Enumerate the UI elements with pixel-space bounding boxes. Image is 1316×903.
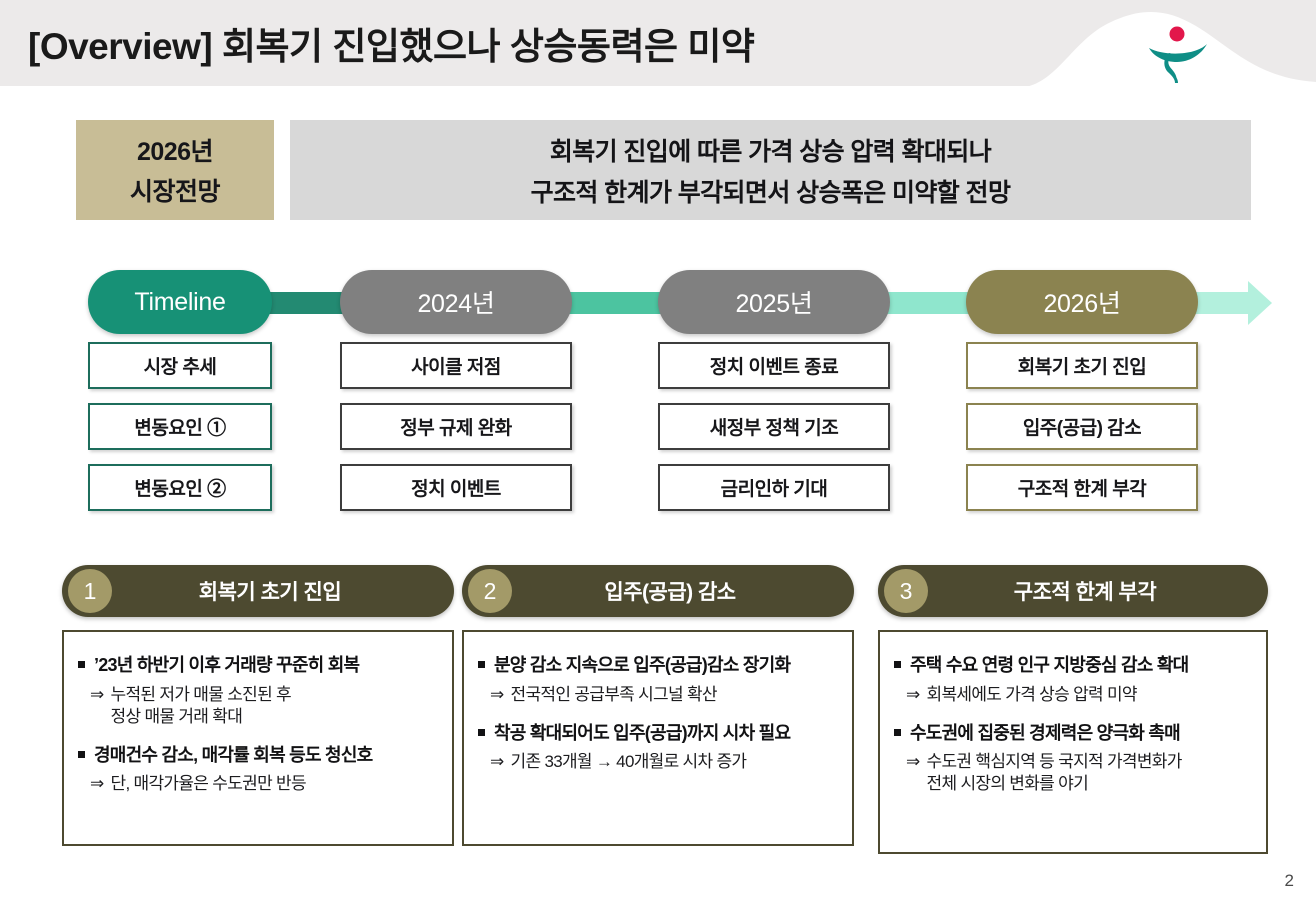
bullet-group: 수도권에 집중된 경제력은 양극화 촉매 ⇒ 수도권 핵심지역 등 국지적 가격…: [894, 722, 1252, 796]
double-arrow-icon: ⇒: [906, 751, 920, 773]
bullet-item: 착공 확대되어도 입주(공급)까지 시차 필요: [478, 722, 838, 745]
sub-item: ⇒ 수도권 핵심지역 등 국지적 가격변화가 전체 시장의 변화를 야기: [906, 751, 1252, 795]
summary-line1: 회복기 진입에 따른 가격 상승 압력 확대되나: [550, 132, 991, 168]
bullet-text: 주택 수요 연령 인구 지방중심 감소 확대: [910, 654, 1188, 677]
bullet-item: 주택 수요 연령 인구 지방중심 감소 확대: [894, 654, 1252, 677]
panel-header[interactable]: 3 구조적 한계 부각: [878, 565, 1268, 617]
panel-number-badge: 1: [68, 569, 112, 613]
double-arrow-icon: ⇒: [906, 684, 920, 706]
timeline-column-3: 회복기 초기 진입 입주(공급) 감소 구조적 한계 부각: [966, 342, 1198, 525]
timeline-cell[interactable]: 시장 추세: [88, 342, 272, 389]
timeline-cell[interactable]: 입주(공급) 감소: [966, 403, 1198, 450]
detail-panel-1: 1 회복기 초기 진입 ’23년 하반기 이후 거래량 꾸준히 회복 ⇒ 누적된…: [62, 565, 454, 846]
bullet-square-icon: [78, 751, 85, 758]
summary-tag-line1: 2026년: [137, 132, 213, 168]
timeline-cell[interactable]: 새정부 정책 기조: [658, 403, 890, 450]
slide-header: [Overview] 회복기 진입했으나 상승동력은 미약: [0, 0, 1316, 86]
sub-item: ⇒ 전국적인 공급부족 시그널 확산: [490, 684, 838, 706]
timeline-cell[interactable]: 변동요인 ①: [88, 403, 272, 450]
timeline-cell[interactable]: 구조적 한계 부각: [966, 464, 1198, 511]
page-title: [Overview] 회복기 진입했으나 상승동력은 미약: [28, 16, 754, 70]
panel-header[interactable]: 2 입주(공급) 감소: [462, 565, 854, 617]
timeline-cell[interactable]: 정부 규제 완화: [340, 403, 572, 450]
timeline-section: Timeline 2024년 2025년 2026년 시장 추세 변동요인 ① …: [0, 270, 1316, 520]
bullet-text: 경매건수 감소, 매각률 회복 등도 청신호: [94, 744, 372, 767]
bullet-group: 착공 확대되어도 입주(공급)까지 시차 필요 ⇒ 기존 33개월 → 40개월…: [478, 722, 838, 774]
sub-text: 단, 매각가율은 수도권만 반등: [111, 773, 306, 795]
bullet-square-icon: [894, 729, 901, 736]
bullet-group: 경매건수 감소, 매각률 회복 등도 청신호 ⇒ 단, 매각가율은 수도권만 반…: [78, 744, 438, 796]
bullet-text: 착공 확대되어도 입주(공급)까지 시차 필요: [494, 722, 790, 745]
panel-title: 구조적 한계 부각: [878, 576, 1268, 606]
slide-root: [Overview] 회복기 진입했으나 상승동력은 미약 2026년 시장전망…: [0, 0, 1316, 903]
double-arrow-icon: ⇒: [90, 684, 104, 706]
timeline-cell[interactable]: 변동요인 ②: [88, 464, 272, 511]
page-number: 2: [1285, 871, 1294, 891]
summary-tag: 2026년 시장전망: [76, 120, 274, 220]
timeline-column-1: 사이클 저점 정부 규제 완화 정치 이벤트: [340, 342, 572, 525]
timeline-column-0: 시장 추세 변동요인 ① 변동요인 ②: [88, 342, 272, 525]
panel-header[interactable]: 1 회복기 초기 진입: [62, 565, 454, 617]
panel-number-badge: 2: [468, 569, 512, 613]
bullet-square-icon: [78, 661, 85, 668]
bullet-square-icon: [894, 661, 901, 668]
timeline-cell[interactable]: 회복기 초기 진입: [966, 342, 1198, 389]
panel-number-badge: 3: [884, 569, 928, 613]
timeline-header-2[interactable]: 2025년: [658, 270, 890, 334]
summary-tag-line2: 시장전망: [130, 172, 220, 208]
bullet-item: 경매건수 감소, 매각률 회복 등도 청신호: [78, 744, 438, 767]
timeline-column-2: 정치 이벤트 종료 새정부 정책 기조 금리인하 기대: [658, 342, 890, 525]
bullet-square-icon: [478, 729, 485, 736]
timeline-cell[interactable]: 정치 이벤트: [340, 464, 572, 511]
double-arrow-icon: ⇒: [490, 684, 504, 706]
panel-body: 주택 수요 연령 인구 지방중심 감소 확대 ⇒ 회복세에도 가격 상승 압력 …: [878, 630, 1268, 854]
summary-line2: 구조적 한계가 부각되면서 상승폭은 미약할 전망: [531, 173, 1011, 209]
bullet-group: 주택 수요 연령 인구 지방중심 감소 확대 ⇒ 회복세에도 가격 상승 압력 …: [894, 654, 1252, 706]
sub-item: ⇒ 회복세에도 가격 상승 압력 미약: [906, 684, 1252, 706]
right-arrow-icon: [1248, 281, 1272, 325]
bullet-text: 분양 감소 지속으로 입주(공급)감소 장기화: [494, 654, 790, 677]
bullet-group: ’23년 하반기 이후 거래량 꾸준히 회복 ⇒ 누적된 저가 매물 소진된 후…: [78, 654, 438, 728]
summary-row: 2026년 시장전망 회복기 진입에 따른 가격 상승 압력 확대되나 구조적 …: [76, 120, 1251, 220]
double-arrow-icon: ⇒: [490, 751, 504, 773]
bullet-square-icon: [478, 661, 485, 668]
sub-text: 누적된 저가 매물 소진된 후 정상 매물 거래 확대: [111, 684, 291, 728]
sub-item: ⇒ 누적된 저가 매물 소진된 후 정상 매물 거래 확대: [90, 684, 438, 728]
sub-item: ⇒ 단, 매각가율은 수도권만 반등: [90, 773, 438, 795]
bullet-item: 분양 감소 지속으로 입주(공급)감소 장기화: [478, 654, 838, 677]
kab-figure-logo-icon: [1143, 22, 1213, 84]
panel-body: ’23년 하반기 이후 거래량 꾸준히 회복 ⇒ 누적된 저가 매물 소진된 후…: [62, 630, 454, 846]
timeline-cell[interactable]: 사이클 저점: [340, 342, 572, 389]
bullet-text: 수도권에 집중된 경제력은 양극화 촉매: [910, 722, 1180, 745]
detail-panel-2: 2 입주(공급) 감소 분양 감소 지속으로 입주(공급)감소 장기화 ⇒ 전국…: [462, 565, 854, 846]
sub-text: 전국적인 공급부족 시그널 확산: [511, 684, 717, 706]
bullet-item: 수도권에 집중된 경제력은 양극화 촉매: [894, 722, 1252, 745]
panel-title: 입주(공급) 감소: [462, 576, 854, 606]
detail-panel-3: 3 구조적 한계 부각 주택 수요 연령 인구 지방중심 감소 확대 ⇒ 회복세…: [878, 565, 1268, 854]
summary-statement-box: 회복기 진입에 따른 가격 상승 압력 확대되나 구조적 한계가 부각되면서 상…: [290, 120, 1251, 220]
sub-text: 기존 33개월 → 40개월로 시차 증가: [511, 751, 747, 773]
bullet-group: 분양 감소 지속으로 입주(공급)감소 장기화 ⇒ 전국적인 공급부족 시그널 …: [478, 654, 838, 706]
panel-body: 분양 감소 지속으로 입주(공급)감소 장기화 ⇒ 전국적인 공급부족 시그널 …: [462, 630, 854, 846]
sub-text: 회복세에도 가격 상승 압력 미약: [927, 684, 1137, 706]
detail-panels-section: 1 회복기 초기 진입 ’23년 하반기 이후 거래량 꾸준히 회복 ⇒ 누적된…: [0, 565, 1316, 875]
panel-title: 회복기 초기 진입: [62, 576, 454, 606]
sub-item: ⇒ 기존 33개월 → 40개월로 시차 증가: [490, 751, 838, 773]
timeline-header-3[interactable]: 2026년: [966, 270, 1198, 334]
sub-text: 수도권 핵심지역 등 국지적 가격변화가 전체 시장의 변화를 야기: [927, 751, 1182, 795]
timeline-header-1[interactable]: 2024년: [340, 270, 572, 334]
timeline-cell[interactable]: 금리인하 기대: [658, 464, 890, 511]
double-arrow-icon: ⇒: [90, 773, 104, 795]
bullet-item: ’23년 하반기 이후 거래량 꾸준히 회복: [78, 654, 438, 677]
timeline-cell[interactable]: 정치 이벤트 종료: [658, 342, 890, 389]
bullet-text: ’23년 하반기 이후 거래량 꾸준히 회복: [94, 654, 359, 677]
timeline-header-0[interactable]: Timeline: [88, 270, 272, 334]
